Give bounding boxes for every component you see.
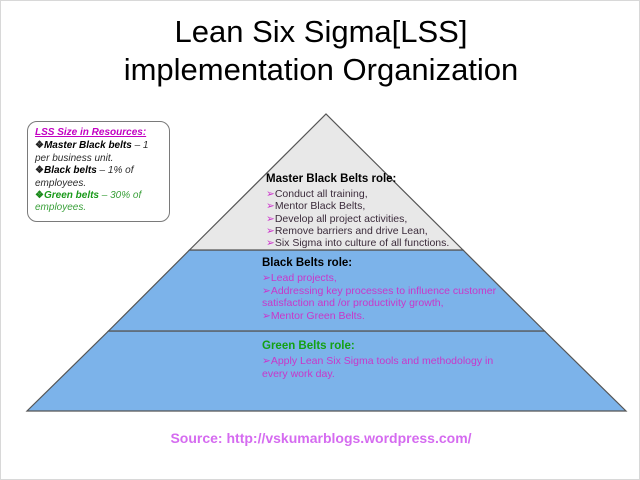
legend-item-master-black-belts: ❖Master Black belts – 1 per business uni…	[35, 140, 163, 165]
tier-title-black-belts: Black Belts role:	[262, 257, 502, 269]
slide-canvas: Lean Six Sigma[LSS] implementation Organ…	[0, 0, 640, 480]
tier-text-green-belts: Green Belts role: ➢Apply Lean Six Sigma …	[262, 340, 497, 380]
tier-bullet-item: ➢Conduct all training,	[266, 188, 481, 200]
legend-heading: LSS Size in Resources:	[35, 127, 163, 139]
tier-item-text: Mentor Black Belts,	[275, 200, 365, 212]
arrow-bullet-icon: ➢	[266, 213, 275, 225]
arrow-bullet-icon: ➢	[266, 237, 275, 249]
arrow-bullet-icon: ➢	[262, 355, 271, 367]
legend-box: LSS Size in Resources: ❖Master Black bel…	[27, 121, 170, 222]
tier-bullet-item: ➢Lead projects,	[262, 272, 502, 284]
tier-bullet-item: ➢Addressing key processes to influence c…	[262, 285, 502, 310]
tier-title-green-belts: Green Belts role:	[262, 340, 497, 352]
arrow-bullet-icon: ➢	[266, 225, 275, 237]
arrow-bullet-icon: ➢	[262, 310, 271, 322]
diamond-bullet-icon: ❖	[35, 140, 44, 151]
arrow-bullet-icon: ➢	[262, 285, 271, 297]
tier-item-text: Mentor Green Belts.	[271, 310, 365, 322]
tier-item-text: Remove barriers and drive Lean,	[275, 225, 428, 237]
tier-title-master-black-belts: Master Black Belts role:	[266, 173, 481, 185]
tier-bullet-item: ➢Six Sigma into culture of all functions…	[266, 237, 481, 249]
source-credit: Source: http://vskumarblogs.wordpress.co…	[1, 430, 640, 446]
diamond-bullet-icon: ❖	[35, 190, 44, 201]
tier-text-master-black-belts: Master Black Belts role: ➢Conduct all tr…	[266, 173, 481, 249]
title-line-1: Lean Six Sigma[LSS]	[175, 14, 468, 49]
legend-item-name: Master Black belts	[44, 140, 132, 151]
arrow-bullet-icon: ➢	[262, 272, 271, 284]
tier-item-text: Addressing key processes to influence cu…	[262, 285, 496, 309]
page-title: Lean Six Sigma[LSS] implementation Organ…	[41, 13, 601, 89]
legend-item-name: Black belts	[44, 165, 97, 176]
tier-text-black-belts: Black Belts role: ➢Lead projects, ➢Addre…	[262, 257, 502, 322]
tier-bullet-item: ➢Remove barriers and drive Lean,	[266, 225, 481, 237]
tier-bullet-item: ➢Develop all project activities,	[266, 213, 481, 225]
tier-bullet-item: ➢Apply Lean Six Sigma tools and methodol…	[262, 355, 497, 380]
legend-item-black-belts: ❖Black belts – 1% of employees.	[35, 165, 163, 190]
tier-item-text: Conduct all training,	[275, 188, 368, 200]
tier-item-text: Six Sigma into culture of all functions.	[275, 237, 450, 249]
diamond-bullet-icon: ❖	[35, 165, 44, 176]
tier-bullet-item: ➢Mentor Black Belts,	[266, 200, 481, 212]
arrow-bullet-icon: ➢	[266, 188, 275, 200]
tier-bullet-item: ➢Mentor Green Belts.	[262, 310, 502, 322]
title-line-2: implementation Organization	[41, 51, 601, 89]
tier-item-text: Lead projects,	[271, 272, 337, 284]
arrow-bullet-icon: ➢	[266, 200, 275, 212]
tier-item-text: Apply Lean Six Sigma tools and methodolo…	[262, 355, 493, 379]
tier-item-text: Develop all project activities,	[275, 213, 407, 225]
legend-item-green-belts: ❖Green belts – 30% of employees.	[35, 190, 163, 215]
legend-item-name: Green belts	[44, 190, 99, 201]
